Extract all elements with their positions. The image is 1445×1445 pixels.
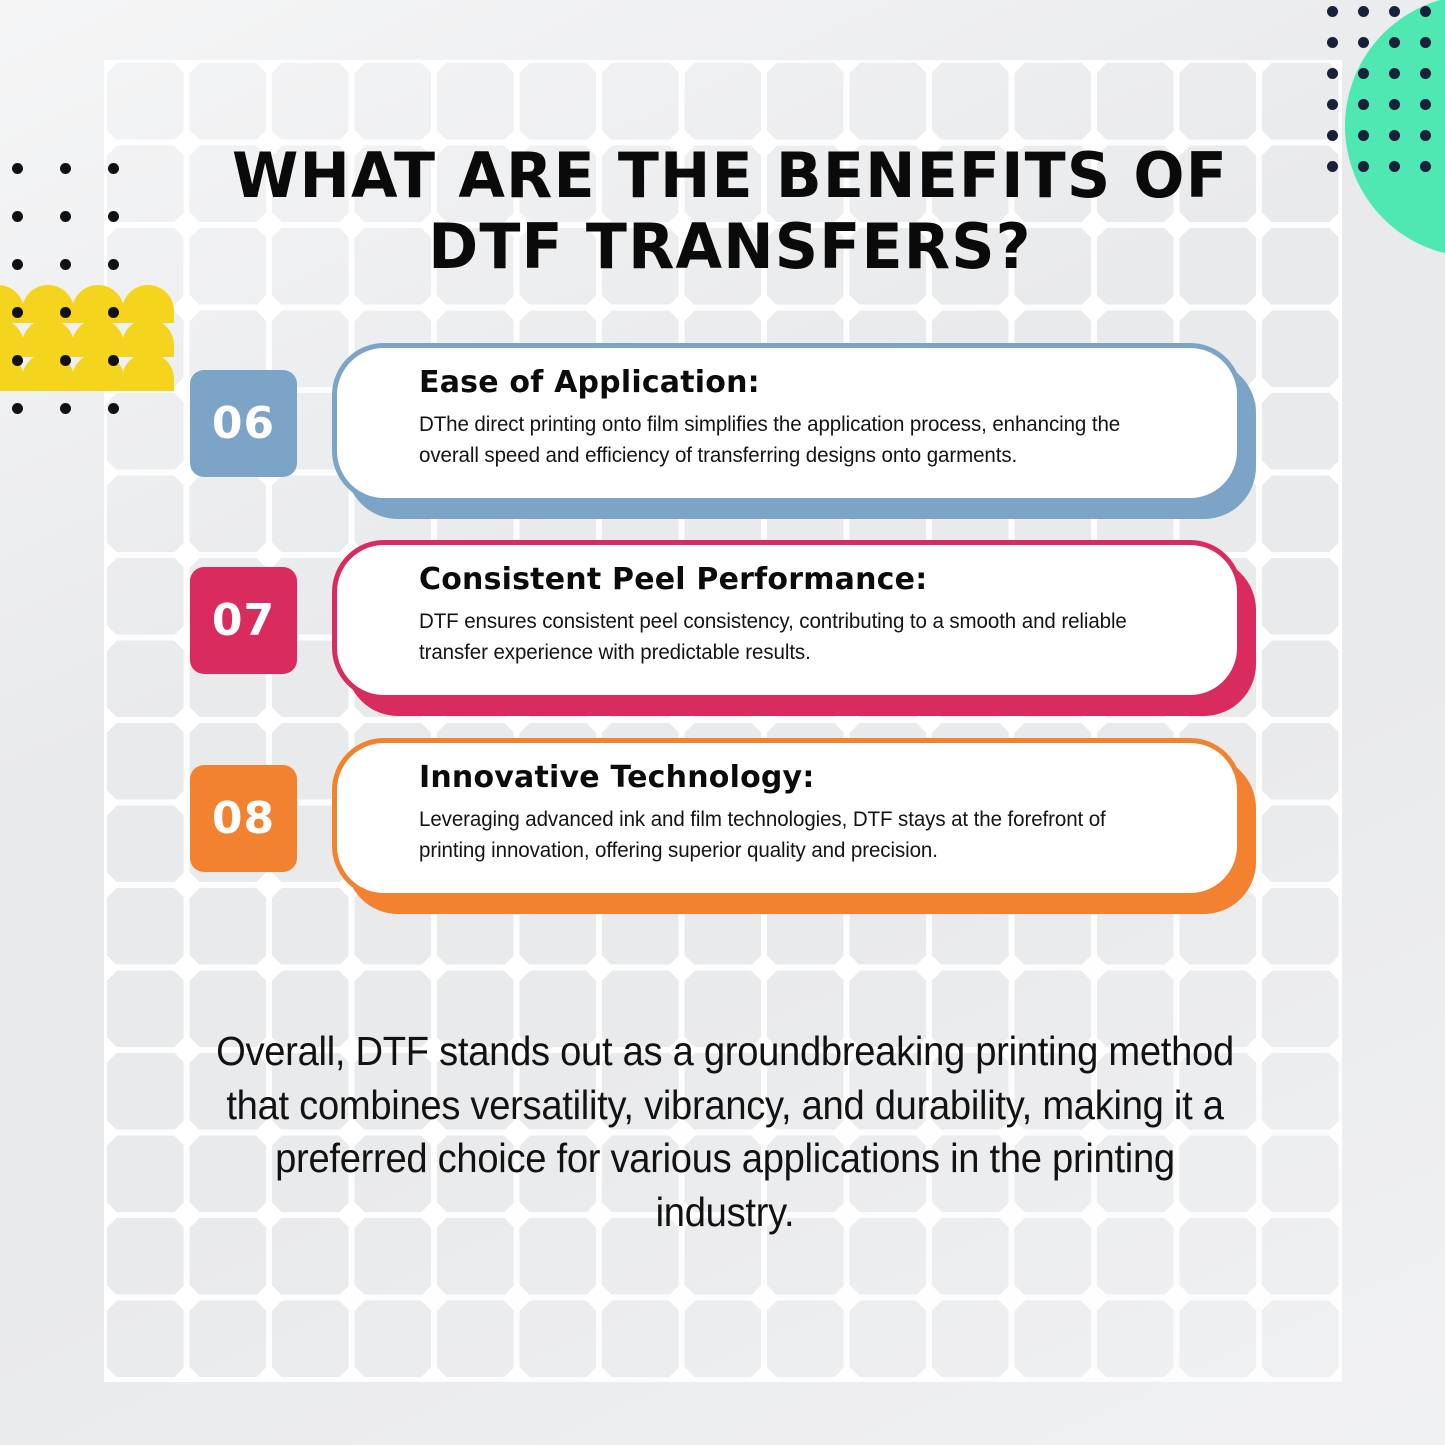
grid-diamond (171, 1364, 202, 1382)
grid-diamond (1243, 1282, 1274, 1313)
grid-diamond (831, 60, 862, 76)
card-description: Leveraging advanced ink and film technol… (419, 804, 1162, 865)
decorative-dot (1327, 37, 1338, 48)
decorative-dot (1389, 6, 1400, 17)
decorative-dot (1420, 99, 1431, 110)
decorative-dot (1327, 161, 1338, 172)
grid-diamond (104, 1117, 120, 1148)
decorative-dot (1327, 99, 1338, 110)
grid-diamond (666, 1364, 697, 1382)
decorative-dot (1358, 6, 1369, 17)
card-description: DTF ensures consistent peel consistency,… (419, 606, 1162, 667)
benefit-card-shell: Ease of Application:DThe direct printing… (332, 343, 1242, 503)
card-description: DThe direct printing onto film simplifie… (419, 409, 1162, 470)
grid-diamond (1326, 1364, 1342, 1382)
grid-diamond (1078, 1282, 1109, 1313)
grid-diamond (1326, 952, 1342, 983)
grid-diamond (1243, 60, 1274, 76)
grid-diamond (583, 60, 614, 76)
grid-diamond (748, 1364, 779, 1382)
grid-diamond (666, 1282, 697, 1313)
decorative-dot (1358, 68, 1369, 79)
grid-diamond (1326, 1117, 1342, 1148)
card-body-panel: Consistent Peel Performance:DTF ensures … (332, 540, 1242, 700)
grid-diamond (501, 1364, 532, 1382)
grid-diamond (1161, 952, 1192, 983)
grid-diamond (253, 292, 284, 323)
grid-diamond (913, 60, 944, 76)
grid-diamond (913, 1364, 944, 1382)
grid-diamond (418, 1282, 449, 1313)
card-body-panel: Innovative Technology:Leveraging advance… (332, 738, 1242, 898)
grid-diamond (1326, 1034, 1342, 1065)
benefit-card[interactable]: Consistent Peel Performance:DTF ensures … (0, 540, 1445, 720)
grid-diamond (666, 60, 697, 76)
grid-diamond (1243, 1199, 1274, 1230)
grid-diamond (583, 952, 614, 983)
grid-diamond (996, 292, 1027, 323)
grid-diamond (171, 60, 202, 76)
benefit-card[interactable]: Ease of Application:DThe direct printing… (0, 343, 1445, 523)
grid-diamond (1243, 292, 1274, 323)
decorative-dot (108, 259, 119, 270)
grid-diamond (1161, 1282, 1192, 1313)
grid-diamond (336, 292, 367, 323)
grid-diamond (253, 1282, 284, 1313)
grid-diamond (253, 60, 284, 76)
decorative-dot (1420, 130, 1431, 141)
grid-diamond (171, 952, 202, 983)
grid-diamond (666, 292, 697, 323)
grid-diamond (1161, 1364, 1192, 1382)
decorative-dot (1358, 130, 1369, 141)
decorative-dot (60, 259, 71, 270)
grid-diamond (418, 952, 449, 983)
grid-diamond (583, 1364, 614, 1382)
grid-diamond (104, 60, 120, 76)
grid-diamond (913, 952, 944, 983)
grid-diamond (1161, 292, 1192, 323)
card-body-panel: Ease of Application:DThe direct printing… (332, 343, 1242, 503)
decorative-dot (1389, 99, 1400, 110)
benefit-card-shell: Consistent Peel Performance:DTF ensures … (332, 540, 1242, 700)
grid-diamond (336, 1364, 367, 1382)
grid-diamond (253, 1364, 284, 1382)
decorative-dot (1327, 6, 1338, 17)
grid-diamond (501, 952, 532, 983)
grid-diamond (996, 1282, 1027, 1313)
grid-diamond (1243, 1034, 1274, 1065)
decorative-dot (1420, 68, 1431, 79)
grid-diamond (171, 1034, 202, 1065)
grid-diamond (1243, 1117, 1274, 1148)
grid-diamond (913, 292, 944, 323)
decorative-dot (12, 163, 23, 174)
grid-diamond (104, 1199, 120, 1230)
grid-diamond (104, 1364, 120, 1382)
card-number-badge: 07 (190, 567, 297, 674)
card-title: Consistent Peel Performance: (419, 563, 1197, 596)
decorative-dot (1389, 130, 1400, 141)
grid-diamond (1326, 1282, 1342, 1313)
grid-diamond (418, 1364, 449, 1382)
benefit-card[interactable]: Innovative Technology:Leveraging advance… (0, 738, 1445, 918)
grid-diamond (1078, 1364, 1109, 1382)
grid-diamond (1078, 292, 1109, 323)
decorative-dot (1389, 37, 1400, 48)
grid-diamond (104, 1282, 120, 1313)
grid-diamond (171, 1282, 202, 1313)
decorative-dot (1389, 161, 1400, 172)
grid-diamond (1243, 952, 1274, 983)
grid-diamond (171, 1117, 202, 1148)
grid-diamond (996, 952, 1027, 983)
grid-diamond (996, 1364, 1027, 1382)
grid-diamond (418, 292, 449, 323)
grid-diamond (583, 1282, 614, 1313)
decorative-dot (108, 163, 119, 174)
decorative-dot (1327, 130, 1338, 141)
grid-diamond (1326, 292, 1342, 323)
decorative-dot (1389, 68, 1400, 79)
benefit-card-shell: Innovative Technology:Leveraging advance… (332, 738, 1242, 898)
grid-diamond (748, 60, 779, 76)
decorative-dot (1358, 37, 1369, 48)
decorative-dot (1358, 161, 1369, 172)
grid-diamond (501, 1282, 532, 1313)
grid-diamond (104, 127, 120, 158)
grid-diamond (171, 1199, 202, 1230)
decorative-dot (60, 163, 71, 174)
grid-diamond (996, 60, 1027, 76)
decorative-dot (108, 211, 119, 222)
decorative-dot (1420, 161, 1431, 172)
yellow-half-circle (0, 285, 24, 323)
summary-paragraph: Overall, DTF stands out as a groundbreak… (204, 1025, 1246, 1240)
grid-diamond (831, 1282, 862, 1313)
grid-diamond (418, 60, 449, 76)
grid-diamond (501, 292, 532, 323)
grid-diamond (1243, 1364, 1274, 1382)
grid-diamond (831, 1364, 862, 1382)
grid-diamond (171, 292, 202, 323)
page-title: WHAT ARE THE BENEFITS OF DTF TRANSFERS? (167, 140, 1292, 283)
decorative-dot (60, 307, 71, 318)
grid-diamond (583, 292, 614, 323)
decorative-dot (1420, 37, 1431, 48)
card-title: Innovative Technology: (419, 761, 1197, 794)
decorative-dot (12, 259, 23, 270)
grid-diamond (1326, 209, 1342, 240)
grid-diamond (748, 1282, 779, 1313)
grid-diamond (1078, 60, 1109, 76)
grid-diamond (1326, 1199, 1342, 1230)
infographic-canvas: WHAT ARE THE BENEFITS OF DTF TRANSFERS? … (0, 0, 1445, 1445)
card-number-badge: 06 (190, 370, 297, 477)
grid-diamond (831, 292, 862, 323)
grid-diamond (1161, 60, 1192, 76)
grid-diamond (253, 952, 284, 983)
decorative-dot (12, 211, 23, 222)
card-number-badge: 08 (190, 765, 297, 872)
grid-diamond (748, 952, 779, 983)
decorative-dot (1327, 68, 1338, 79)
grid-diamond (104, 1034, 120, 1065)
yellow-half-circle (122, 285, 174, 323)
grid-diamond (336, 952, 367, 983)
grid-diamond (913, 1282, 944, 1313)
grid-diamond (501, 60, 532, 76)
grid-diamond (831, 952, 862, 983)
decorative-dot (108, 307, 119, 318)
grid-diamond (336, 60, 367, 76)
grid-diamond (748, 292, 779, 323)
grid-diamond (1078, 952, 1109, 983)
grid-diamond (666, 952, 697, 983)
decorative-dot (12, 307, 23, 318)
decorative-dot (1358, 99, 1369, 110)
grid-diamond (336, 1282, 367, 1313)
grid-diamond (104, 952, 120, 983)
decorative-dot (60, 211, 71, 222)
card-title: Ease of Application: (419, 366, 1197, 399)
decorative-dot (1420, 6, 1431, 17)
